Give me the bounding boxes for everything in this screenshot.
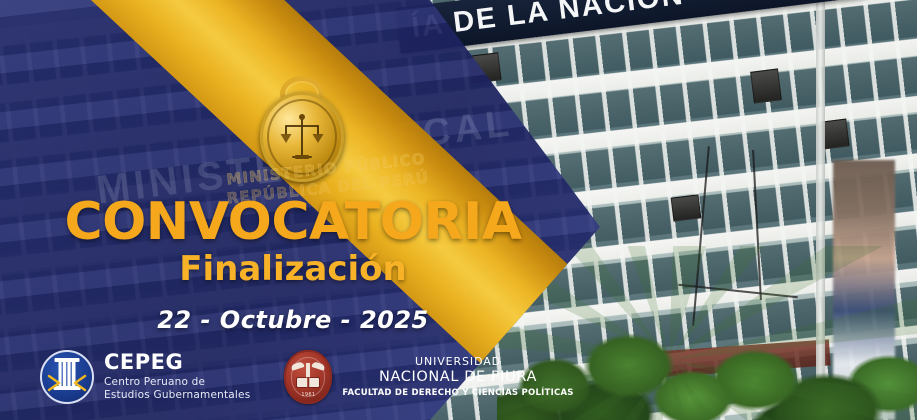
emblem-medallion-icon [260, 92, 344, 182]
promotional-banner: ÍA DE LA NACIÓN MINISTERIO FISCAL JUDICI… [0, 0, 917, 420]
cepeg-logo: CEPEG Centro Peruano de Estudios Guberna… [40, 350, 250, 404]
cepeg-chevron-icon [47, 374, 87, 392]
scales-of-justice-icon [279, 111, 325, 163]
ministerio-publico-emblem [256, 78, 348, 182]
headline-block: CONVOCATORIA Finalización 22 - Octubre -… [0, 196, 586, 334]
unp-line2: NACIONAL DE PIURA [342, 369, 573, 386]
crest-year: 1961 [301, 392, 315, 398]
unp-logo-text: UNIVERSIDAD NACIONAL DE PIURA FACULTAD D… [342, 355, 573, 398]
cepeg-line2: Estudios Gubernamentales [104, 389, 250, 402]
unp-line3: FACULTAD DE DERECHO Y CIENCIAS POLÍTICAS [342, 388, 573, 399]
unp-line1: UNIVERSIDAD [342, 355, 573, 369]
cepeg-acronym: CEPEG [104, 352, 250, 373]
cepeg-logo-text: CEPEG Centro Peruano de Estudios Guberna… [104, 352, 250, 402]
cepeg-line1: Centro Peruano de [104, 376, 250, 389]
unp-crest-icon: 1961 [284, 350, 332, 404]
crest-book [297, 378, 319, 387]
page-title: CONVOCATORIA [0, 196, 586, 248]
event-date: 22 - Octubre - 2025 [0, 306, 586, 334]
cepeg-column-icon [40, 350, 94, 404]
unp-logo: 1961 UNIVERSIDAD NACIONAL DE PIURA FACUL… [284, 350, 573, 404]
page-subtitle: Finalización [0, 252, 586, 288]
footer-logos: CEPEG Centro Peruano de Estudios Guberna… [40, 350, 574, 404]
